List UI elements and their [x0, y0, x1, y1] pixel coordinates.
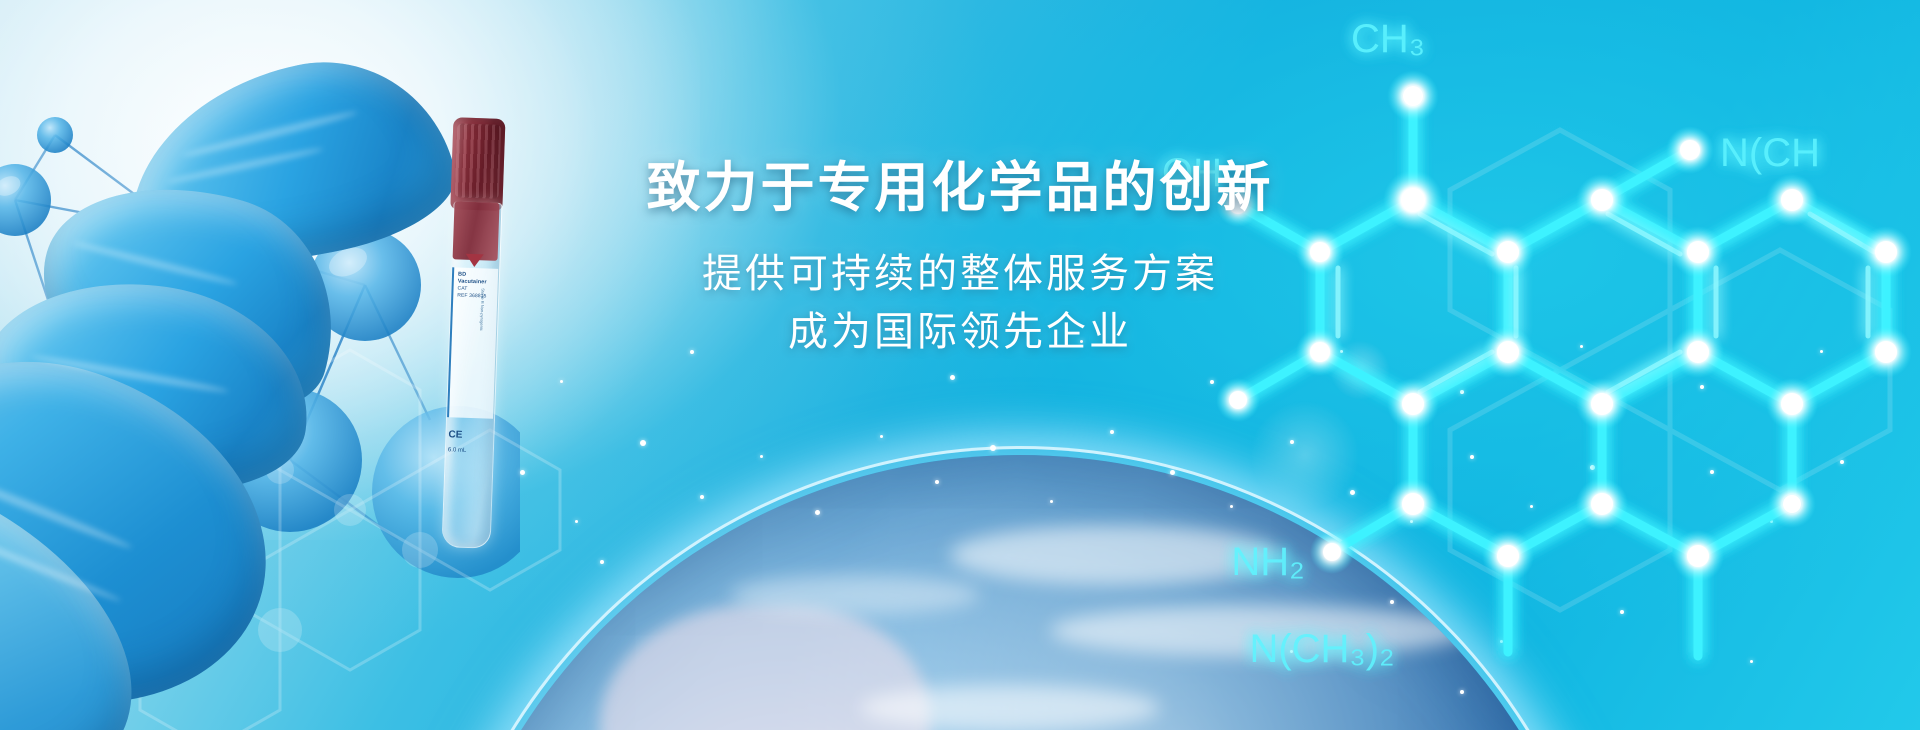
vial-label: BD Vacutainer CAT REF 368815 — [447, 267, 498, 419]
vial-volume-text: 6.0 mL — [448, 447, 467, 455]
vial-contents — [453, 201, 500, 261]
vial-fill-arrow-icon — [465, 254, 483, 268]
chem-label-nch32: N(CH₃)₂ — [1249, 627, 1394, 671]
chem-label-nch-right: N(CH — [1720, 131, 1820, 175]
vial-ce-mark: CE — [448, 429, 462, 440]
chem-label-oh: OH — [1162, 151, 1222, 195]
vial-ref-text: REF 368815 — [457, 292, 495, 300]
chem-label-nh2: NH₂ — [1231, 540, 1304, 584]
chemical-structure-diagram: CH₃ OH N(CH NH₂ N(CH₃)₂ — [1220, 0, 1920, 730]
hero-banner: BD Vacutainer CAT REF 368815 Sterile R N… — [0, 0, 1920, 730]
vial-cap — [450, 117, 505, 211]
chem-label-ch3: CH₃ — [1351, 17, 1425, 61]
vial-brand-text: BD Vacutainer — [458, 271, 496, 286]
blood-collection-vial: BD Vacutainer CAT REF 368815 Sterile R N… — [425, 117, 520, 550]
